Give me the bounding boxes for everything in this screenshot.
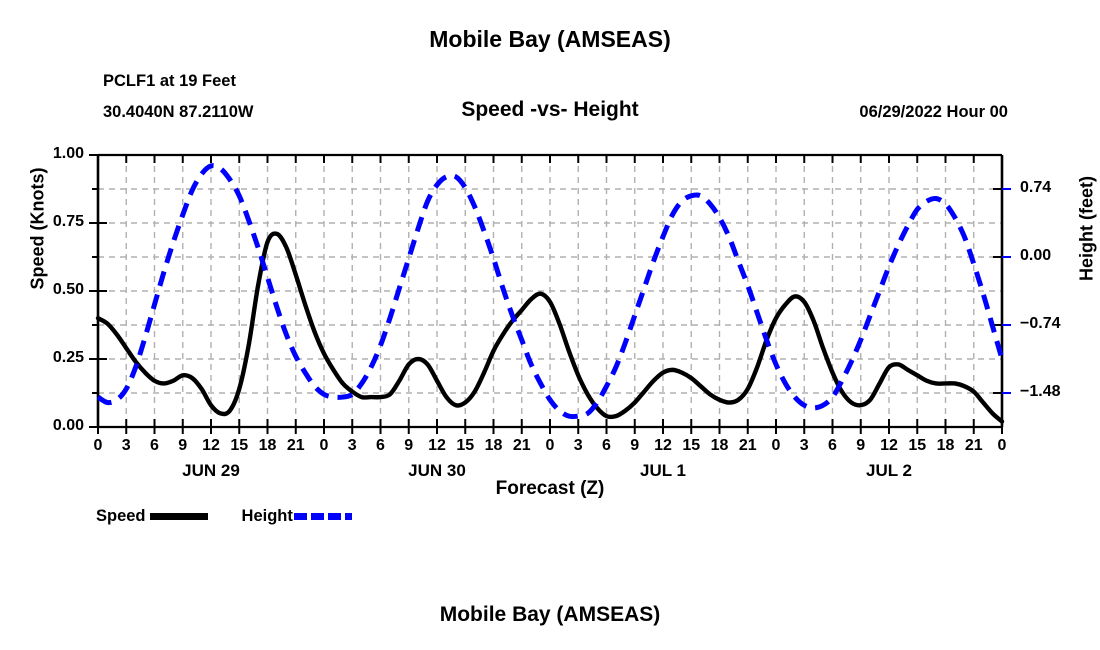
series-line-height bbox=[98, 166, 1002, 417]
x-tick-label: 0 bbox=[761, 437, 791, 455]
y-tick-label-left: 0.75 bbox=[14, 213, 84, 231]
station-label: PCLF1 at 19 Feet bbox=[103, 72, 236, 91]
x-tick-label: 21 bbox=[733, 437, 763, 455]
x-tick-label: 21 bbox=[959, 437, 989, 455]
x-tick-label: 21 bbox=[281, 437, 311, 455]
x-tick-label: 15 bbox=[450, 437, 480, 455]
x-tick-label: 21 bbox=[507, 437, 537, 455]
y-tick-label-right: 0.74 bbox=[1020, 179, 1090, 197]
x-axis-day-label: JUL 1 bbox=[593, 461, 733, 481]
x-tick-label: 15 bbox=[676, 437, 706, 455]
x-axis-day-label: JUN 29 bbox=[141, 461, 281, 481]
x-axis-day-label: JUL 2 bbox=[819, 461, 959, 481]
x-tick-label: 6 bbox=[366, 437, 396, 455]
x-axis-day-label: JUN 30 bbox=[367, 461, 507, 481]
legend-label-speed: Speed bbox=[96, 507, 146, 526]
x-tick-label: 12 bbox=[422, 437, 452, 455]
plot-frame bbox=[98, 155, 1002, 427]
y-axis-label-right: Height (feet) bbox=[1077, 129, 1098, 329]
x-tick-label: 3 bbox=[563, 437, 593, 455]
x-tick-label: 12 bbox=[648, 437, 678, 455]
legend-swatch-speed bbox=[150, 513, 208, 520]
legend-swatch-height bbox=[294, 513, 352, 520]
x-tick-label: 6 bbox=[140, 437, 170, 455]
axis-ticks bbox=[89, 155, 1011, 434]
y-tick-label-right: −0.74 bbox=[1020, 315, 1090, 333]
x-tick-label: 18 bbox=[253, 437, 283, 455]
x-tick-label: 15 bbox=[902, 437, 932, 455]
x-tick-label: 6 bbox=[592, 437, 622, 455]
y-tick-label-left: 0.00 bbox=[14, 417, 84, 435]
x-tick-label: 12 bbox=[874, 437, 904, 455]
x-tick-label: 18 bbox=[931, 437, 961, 455]
x-tick-label: 6 bbox=[818, 437, 848, 455]
y-tick-label-right: 0.00 bbox=[1020, 247, 1090, 265]
x-tick-label: 3 bbox=[789, 437, 819, 455]
model-run-stamp: 06/29/2022 Hour 00 bbox=[859, 103, 1008, 122]
x-axis-label: Forecast (Z) bbox=[0, 478, 1100, 500]
y-tick-label-left: 1.00 bbox=[14, 145, 84, 163]
x-tick-label: 0 bbox=[309, 437, 339, 455]
x-tick-label: 0 bbox=[535, 437, 565, 455]
y-tick-label-left: 0.50 bbox=[14, 281, 84, 299]
y-tick-label-right: −1.48 bbox=[1020, 383, 1090, 401]
x-tick-label: 9 bbox=[620, 437, 650, 455]
x-tick-label: 9 bbox=[168, 437, 198, 455]
x-tick-label: 3 bbox=[337, 437, 367, 455]
x-tick-label: 9 bbox=[846, 437, 876, 455]
chart-page: Mobile Bay (AMSEAS) PCLF1 at 19 Feet 30.… bbox=[0, 0, 1100, 650]
x-tick-label: 0 bbox=[83, 437, 113, 455]
footer-title: Mobile Bay (AMSEAS) bbox=[0, 603, 1100, 627]
x-tick-label: 9 bbox=[394, 437, 424, 455]
x-tick-label: 18 bbox=[705, 437, 735, 455]
data-series bbox=[98, 166, 1002, 422]
x-tick-label: 0 bbox=[987, 437, 1017, 455]
legend-label-height: Height bbox=[242, 507, 293, 526]
x-tick-label: 3 bbox=[111, 437, 141, 455]
x-tick-label: 18 bbox=[479, 437, 509, 455]
y-tick-label-left: 0.25 bbox=[14, 349, 84, 367]
page-title: Mobile Bay (AMSEAS) bbox=[0, 26, 1100, 53]
x-tick-label: 15 bbox=[224, 437, 254, 455]
chart-legend: Speed Height bbox=[96, 507, 352, 526]
gridlines bbox=[98, 155, 1002, 427]
x-tick-label: 12 bbox=[196, 437, 226, 455]
series-line-speed bbox=[98, 234, 1002, 422]
